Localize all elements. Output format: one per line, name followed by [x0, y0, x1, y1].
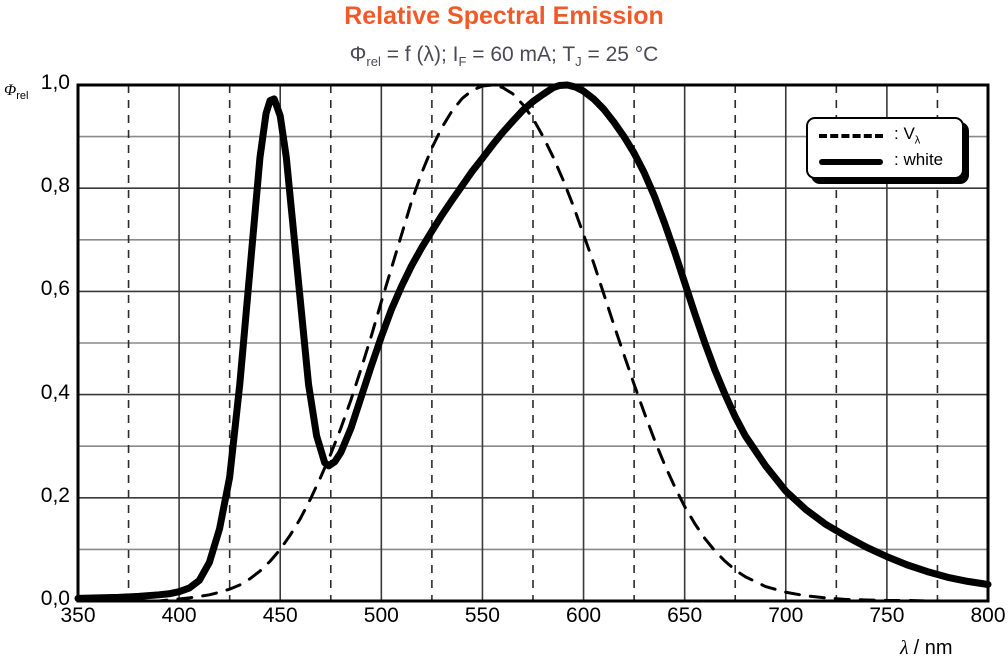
x-tick-label: 650 [650, 604, 720, 628]
chart-figure: Relative Spectral Emission Φrel = f (λ);… [0, 0, 1008, 667]
x-tick-label: 800 [953, 604, 1008, 628]
legend-label-vlambda: : Vλ [894, 124, 920, 146]
legend-row: : white [808, 149, 966, 175]
subtitle-phi: Φ [350, 43, 367, 66]
page-title: Relative Spectral Emission [0, 2, 1008, 31]
legend-label-text: : white [894, 150, 943, 169]
x-tick-label: 750 [852, 604, 922, 628]
y-tick-label: 0,6 [24, 277, 70, 301]
y-tick-label: 0,8 [24, 174, 70, 198]
subtitle-tail: = 25 °C [582, 43, 659, 66]
subtitle-mid2: = 60 mA; T [466, 43, 575, 66]
legend-swatch-solid [819, 159, 883, 165]
y-tick-label: 1,0 [24, 71, 70, 95]
chart-subtitle: Φrel = f (λ); IF = 60 mA; TJ = 25 °C [0, 43, 1008, 69]
x-tick-label: 550 [447, 604, 517, 628]
x-tick-label: 500 [346, 604, 416, 628]
x-tick-label: 400 [144, 604, 214, 628]
y-tick-label: 0,2 [24, 484, 70, 508]
y-tick-label: 0,4 [24, 381, 70, 405]
x-tick-label: 600 [549, 604, 619, 628]
legend-label-white: : white [894, 150, 943, 170]
legend-label-subscript: λ [915, 134, 921, 146]
subtitle-phi-sub: rel [366, 54, 380, 69]
legend: : Vλ : white [806, 117, 964, 179]
x-tick-label: 350 [43, 604, 113, 628]
legend-swatch-dashed [819, 134, 883, 138]
x-tick-label: 700 [751, 604, 821, 628]
legend-label-text: : V [894, 124, 915, 143]
x-tick-label: 450 [245, 604, 315, 628]
subtitle-mid: = f (λ); I [381, 43, 459, 66]
legend-row: : Vλ [808, 123, 966, 149]
plot-canvas [0, 0, 1008, 667]
x-axis-label: λ / nm [900, 637, 953, 660]
